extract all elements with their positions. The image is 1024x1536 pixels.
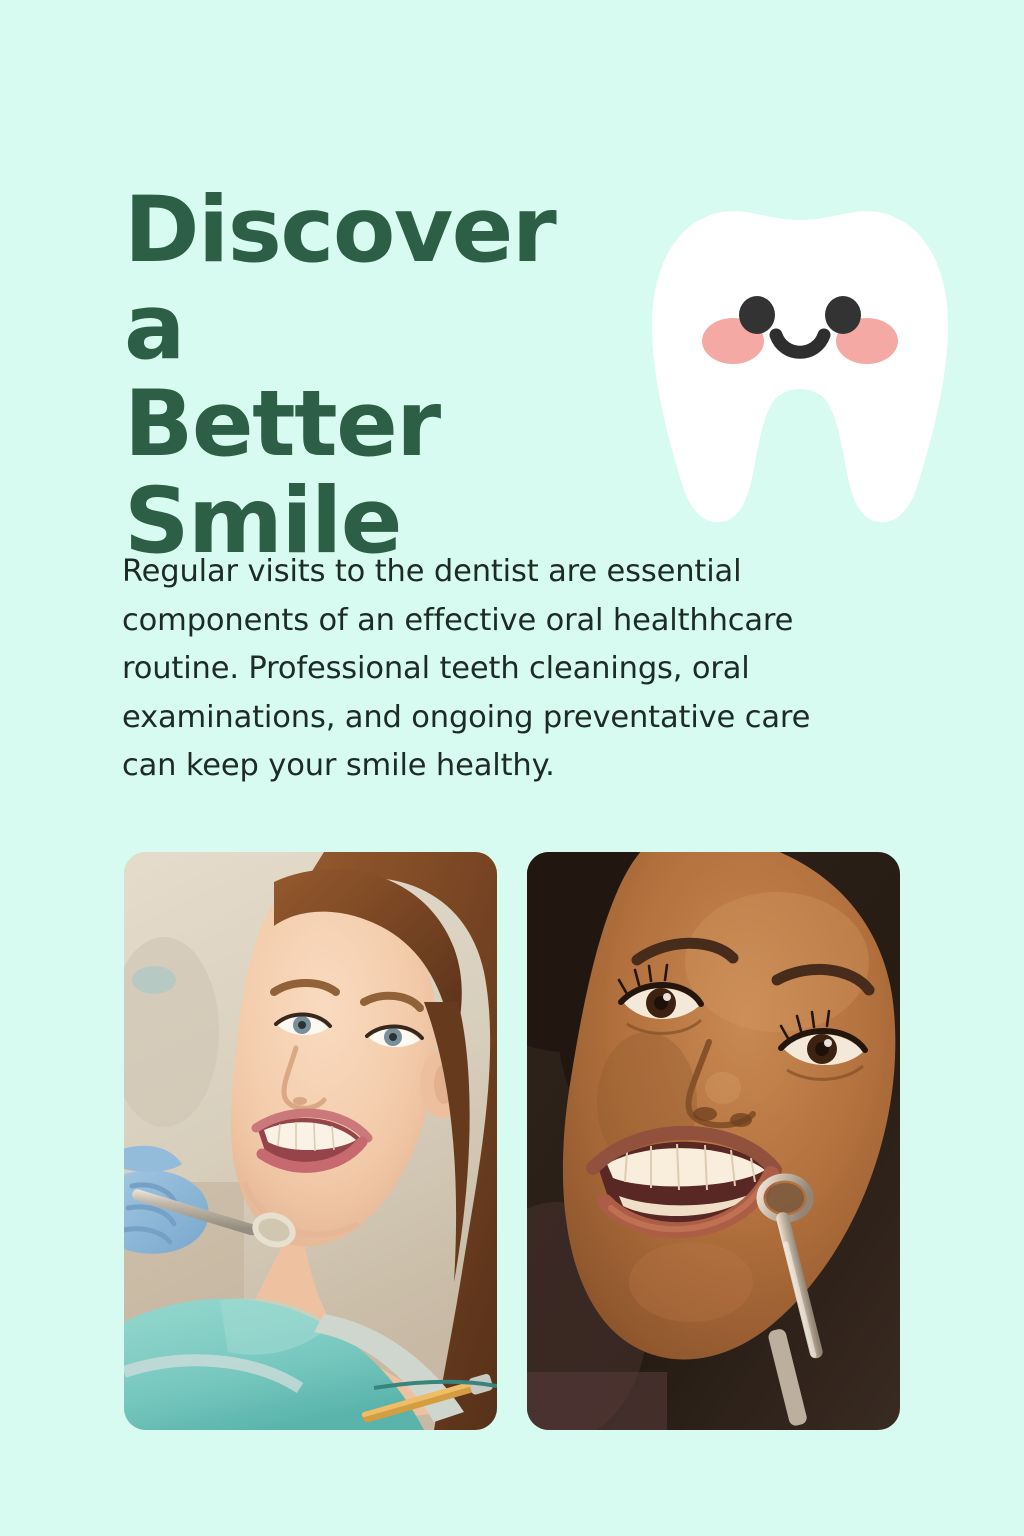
dental-poster: Discover a Better Smile Regular visits t…: [0, 0, 1024, 1536]
tooth-eye-left: [739, 296, 775, 334]
page-title: Discover a Better Smile: [124, 182, 644, 570]
tooth-shape: [652, 211, 948, 522]
photo-gallery: Smiling woman with red hair in dental ch…: [124, 852, 900, 1430]
smiling-tooth-mascot: [648, 208, 952, 528]
photo-dental-checkup-woman-mirror: Smiling woman with red hair in dental ch…: [124, 852, 497, 1430]
photo-alt-text: Smiling woman with red hair in dental ch…: [124, 852, 125, 853]
photo-smiling-patient-closeup: Close-up of a smiling woman with dark sk…: [527, 852, 900, 1430]
photo-alt-text: Close-up of a smiling woman with dark sk…: [527, 852, 528, 853]
body-paragraph: Regular visits to the dentist are essent…: [122, 548, 844, 791]
tooth-eye-right: [825, 296, 861, 334]
